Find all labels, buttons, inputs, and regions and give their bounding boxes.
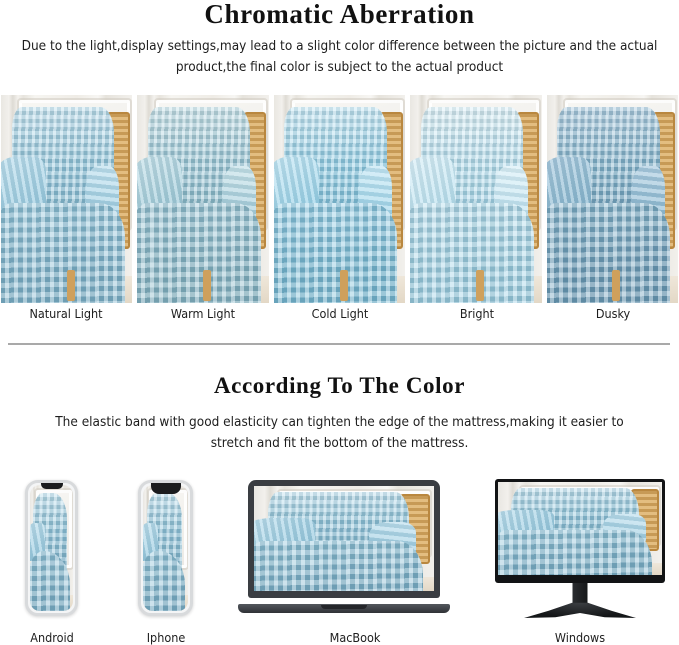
device-mockup-macbook — [238, 480, 450, 613]
device-mockup-iphone — [138, 480, 193, 616]
chair-leg-center — [340, 270, 348, 301]
chair-leg-center — [203, 270, 211, 301]
device-mockup-android — [25, 480, 78, 616]
macbook-base — [238, 604, 450, 613]
description-according-to-the-color: The elastic band with good elasticity ca… — [0, 412, 679, 454]
device-label-macbook: MacBook — [300, 630, 410, 645]
android-screen — [30, 485, 73, 611]
product-photo-cold-light — [274, 95, 405, 303]
lighting-tile — [547, 95, 678, 303]
blanket-drape-bottom — [547, 203, 671, 303]
macbook-screen — [254, 486, 434, 591]
blanket-drape-bottom — [254, 541, 423, 591]
chair-leg-center — [67, 270, 75, 301]
blanket-drape-bottom — [498, 530, 652, 575]
iphone-notch-icon — [151, 483, 181, 494]
product-photo-dusky — [547, 95, 678, 303]
blanket-drape-bottom — [410, 203, 534, 303]
android-earpiece-icon — [41, 483, 63, 489]
device-mockup-windows-monitor — [495, 479, 665, 619]
macbook-trackpad-notch-icon — [321, 605, 367, 609]
monitor-screen — [498, 482, 662, 575]
chair-leg-center — [476, 270, 484, 301]
description-chromatic-aberration: Due to the light,display settings,may le… — [0, 36, 679, 78]
product-photo-warm-light — [137, 95, 268, 303]
lighting-tile-label-cold-light: Cold Light — [274, 306, 406, 321]
product-photo-bright — [410, 95, 541, 303]
lighting-comparison-gallery — [0, 95, 679, 303]
section-divider — [8, 343, 670, 345]
page-title-chromatic-aberration: Chromatic Aberration — [0, 0, 679, 30]
blanket-drape-bottom — [137, 203, 261, 303]
blanket-drape-bottom — [1, 203, 125, 303]
lighting-tile — [410, 95, 541, 303]
lighting-tile-label-natural-light: Natural Light — [0, 306, 132, 321]
device-label-iphone: Iphone — [122, 630, 210, 645]
lighting-tile — [1, 95, 132, 303]
device-preview-gallery: Android Iphone MacBook Windows — [0, 470, 679, 644]
blanket-drape-bottom — [274, 203, 398, 303]
monitor-stand-neck — [573, 583, 588, 603]
lighting-tile-label-bright: Bright — [411, 306, 543, 321]
lighting-tile-label-dusky: Dusky — [547, 306, 679, 321]
lighting-tile-label-warm-light: Warm Light — [137, 306, 269, 321]
lighting-tile — [274, 95, 405, 303]
monitor-bezel — [495, 479, 665, 583]
product-photo-natural-light — [1, 95, 132, 303]
device-label-windows: Windows — [525, 630, 635, 645]
iphone-screen — [143, 485, 188, 611]
page-title-according-to-the-color: According To The Color — [0, 372, 679, 399]
lighting-tile — [137, 95, 268, 303]
macbook-lid — [248, 480, 440, 598]
chair-leg-center — [612, 270, 620, 301]
device-label-android: Android — [8, 630, 96, 645]
